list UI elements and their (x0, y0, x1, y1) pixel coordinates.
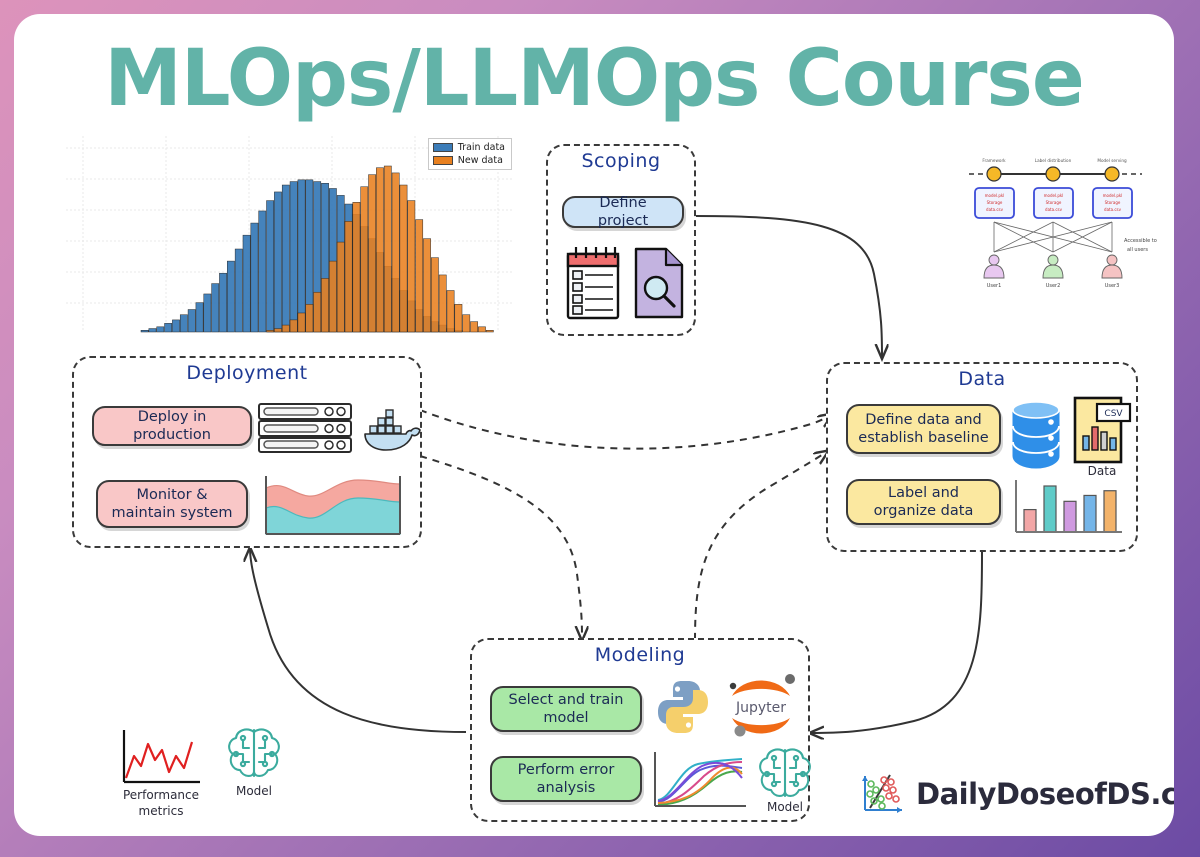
histogram-bar (353, 202, 360, 332)
legend-item-train: Train data (433, 142, 505, 153)
brand-name: DailyDoseofDS.com (916, 777, 1174, 811)
histogram-bar (439, 275, 446, 332)
model-brain-caption: Model (223, 784, 285, 798)
arrow-data-to-modeling (810, 552, 982, 733)
model-brain-icon: Model (223, 724, 285, 782)
serving-column-labels: Framework Label distribution Model servi… (982, 158, 1127, 163)
histogram-bar (165, 323, 172, 332)
histogram-bar (345, 221, 352, 332)
histogram-bar (274, 329, 281, 332)
svg-text:Accessible to: Accessible to (1124, 238, 1157, 244)
step-label-organize-data[interactable]: Label and organize data (846, 479, 1001, 525)
step-define-data-establish-baseline[interactable]: Define data and establish baseline (846, 404, 1001, 454)
histogram-bar (392, 173, 399, 332)
data-bar (1044, 486, 1056, 532)
arrow-deployment-to-modeling (420, 456, 582, 640)
svg-text:User1: User1 (987, 283, 1002, 289)
document-search-icon (633, 246, 685, 320)
histogram-bar (416, 220, 423, 332)
histogram-bar (243, 235, 250, 332)
poster-canvas: MLOps/LLMOps Course Train (14, 14, 1174, 836)
scatter-classifier-icon (860, 772, 906, 816)
section-data[interactable]: Data Define data and establish baseline … (826, 362, 1138, 552)
section-modeling-title: Modeling (472, 638, 808, 666)
histogram-bar (431, 258, 438, 332)
histogram-bar (321, 278, 328, 332)
docker-whale-icon (362, 406, 422, 454)
svg-text:CSV: CSV (1104, 409, 1123, 419)
arrow-modeling-to-deployment (250, 548, 466, 732)
histogram-bar (149, 329, 156, 332)
histogram-legend: Train data New data (428, 138, 512, 170)
data-bar (1084, 495, 1096, 532)
svg-text:data.csv: data.csv (1104, 207, 1122, 212)
data-bar-chart-bars (1024, 486, 1116, 532)
histogram-bar (188, 310, 195, 332)
section-scoping[interactable]: Scoping Define project (546, 144, 696, 336)
histogram-bar (172, 320, 179, 332)
histogram-bar (408, 201, 415, 332)
step-define-project[interactable]: Define project (562, 196, 684, 228)
section-deployment[interactable]: Deployment Deploy in production Monitor … (72, 356, 422, 548)
brand-logo[interactable]: DailyDoseofDS.com (860, 772, 1174, 816)
histogram-bar (212, 284, 219, 332)
histogram-bar (290, 320, 297, 332)
performance-metrics-caption-2: metrics (118, 804, 204, 818)
svg-text:model.pkl: model.pkl (1103, 193, 1123, 198)
histogram-bar (314, 292, 321, 332)
section-data-title: Data (828, 362, 1136, 390)
histogram-bar (282, 185, 289, 332)
csv-file-icon: CSV Data (1071, 394, 1133, 466)
histogram-bar (455, 304, 462, 332)
histogram-bar (368, 175, 375, 332)
arrow-scoping-to-data (696, 216, 882, 358)
histogram-bar (219, 273, 226, 332)
histogram-bar (235, 249, 242, 332)
database-icon (1010, 400, 1062, 470)
histogram-bar (157, 327, 164, 332)
svg-text:Storage: Storage (1046, 200, 1062, 205)
legend-swatch-new (433, 156, 453, 165)
histogram-bar (447, 291, 454, 333)
step-deploy-in-production[interactable]: Deploy in production (92, 406, 252, 446)
server-rack-icon (257, 402, 353, 454)
histogram-bar (486, 330, 493, 332)
histogram-bar (267, 330, 274, 332)
serving-artifact-boxes: model.pkl Storage data.csv model.pkl Sto… (975, 188, 1132, 218)
jupyter-logo-icon: Jupyter (720, 672, 802, 742)
histogram-bar (141, 330, 148, 332)
histogram-bar (298, 180, 305, 332)
histogram-bar (267, 201, 274, 332)
svg-text:Framework: Framework (982, 158, 1006, 163)
python-logo-icon (654, 678, 712, 736)
section-modeling[interactable]: Modeling Select and train model Perform … (470, 638, 810, 822)
histogram-bar (478, 327, 485, 332)
step-perform-error-analysis[interactable]: Perform error analysis (490, 756, 642, 802)
histogram-bar (376, 168, 383, 332)
histogram-bar (180, 315, 187, 332)
step-monitor-maintain-system[interactable]: Monitor & maintain system (96, 480, 248, 528)
svg-text:Jupyter: Jupyter (735, 700, 786, 716)
poster-root: MLOps/LLMOps Course Train (0, 0, 1200, 857)
legend-label-new: New data (458, 155, 503, 166)
serving-timeline (969, 167, 1142, 181)
area-chart-icon (262, 468, 404, 538)
line-chart-icon (650, 748, 748, 810)
legend-swatch-train (433, 143, 453, 152)
svg-text:Label distribution: Label distribution (1035, 158, 1072, 163)
section-deployment-title: Deployment (74, 356, 420, 384)
section-scoping-title: Scoping (548, 144, 694, 172)
notepad-icon (565, 244, 621, 322)
histogram-bar (290, 182, 297, 332)
histogram-bar (274, 192, 281, 332)
histogram-bar (298, 313, 305, 332)
histogram-bar (384, 166, 391, 332)
bar-chart-icon (1010, 476, 1128, 540)
histogram-bar (470, 322, 477, 332)
svg-text:User3: User3 (1105, 283, 1120, 289)
step-select-and-train-model[interactable]: Select and train model (490, 686, 642, 732)
data-bar (1064, 501, 1076, 532)
svg-text:data.csv: data.csv (986, 207, 1004, 212)
distribution-shift-histogram: Train data New data (66, 136, 512, 341)
svg-text:data.csv: data.csv (1045, 207, 1063, 212)
histogram-bar (204, 294, 211, 332)
histogram-bar (361, 187, 368, 332)
model-serving-diagram: Framework Label distribution Model servi… (964, 152, 1149, 290)
serving-users: User1 User2 User3 (984, 255, 1122, 289)
brain-circuit-icon: Model (754, 744, 816, 802)
histogram-bar (282, 325, 289, 332)
svg-text:User2: User2 (1046, 283, 1061, 289)
histogram-bar (227, 261, 234, 332)
histogram-bar (196, 303, 203, 332)
histogram-bar (337, 242, 344, 332)
svg-text:Storage: Storage (1105, 200, 1121, 205)
serving-note: Accessible to all users (1124, 238, 1157, 253)
svg-text:all users: all users (1127, 247, 1148, 253)
performance-metrics-caption-1: Performance (118, 788, 204, 802)
histogram-bar (423, 239, 430, 332)
svg-text:model.pkl: model.pkl (1044, 193, 1064, 198)
performance-metrics-icon: Performance metrics (118, 726, 204, 788)
svg-text:Model serving: Model serving (1097, 158, 1127, 163)
histogram-bar (329, 261, 336, 332)
serving-crosslinks (994, 222, 1112, 252)
svg-text:model.pkl: model.pkl (985, 193, 1005, 198)
histogram-bar (400, 185, 407, 332)
histogram-bar (251, 223, 258, 332)
data-bar (1104, 491, 1116, 532)
histogram-bar (259, 211, 266, 332)
arrow-modeling-to-data (695, 451, 828, 640)
legend-item-new: New data (433, 155, 505, 166)
legend-label-train: Train data (458, 142, 505, 153)
data-bar (1024, 510, 1036, 532)
arrow-deployment-to-data (420, 410, 832, 449)
page-title: MLOps/LLMOps Course (14, 40, 1174, 118)
svg-text:Storage: Storage (987, 200, 1003, 205)
brain-circuit-caption: Model (754, 800, 816, 814)
histogram-bar (463, 315, 470, 332)
histogram-bars (141, 166, 493, 332)
histogram-bar (306, 304, 313, 332)
